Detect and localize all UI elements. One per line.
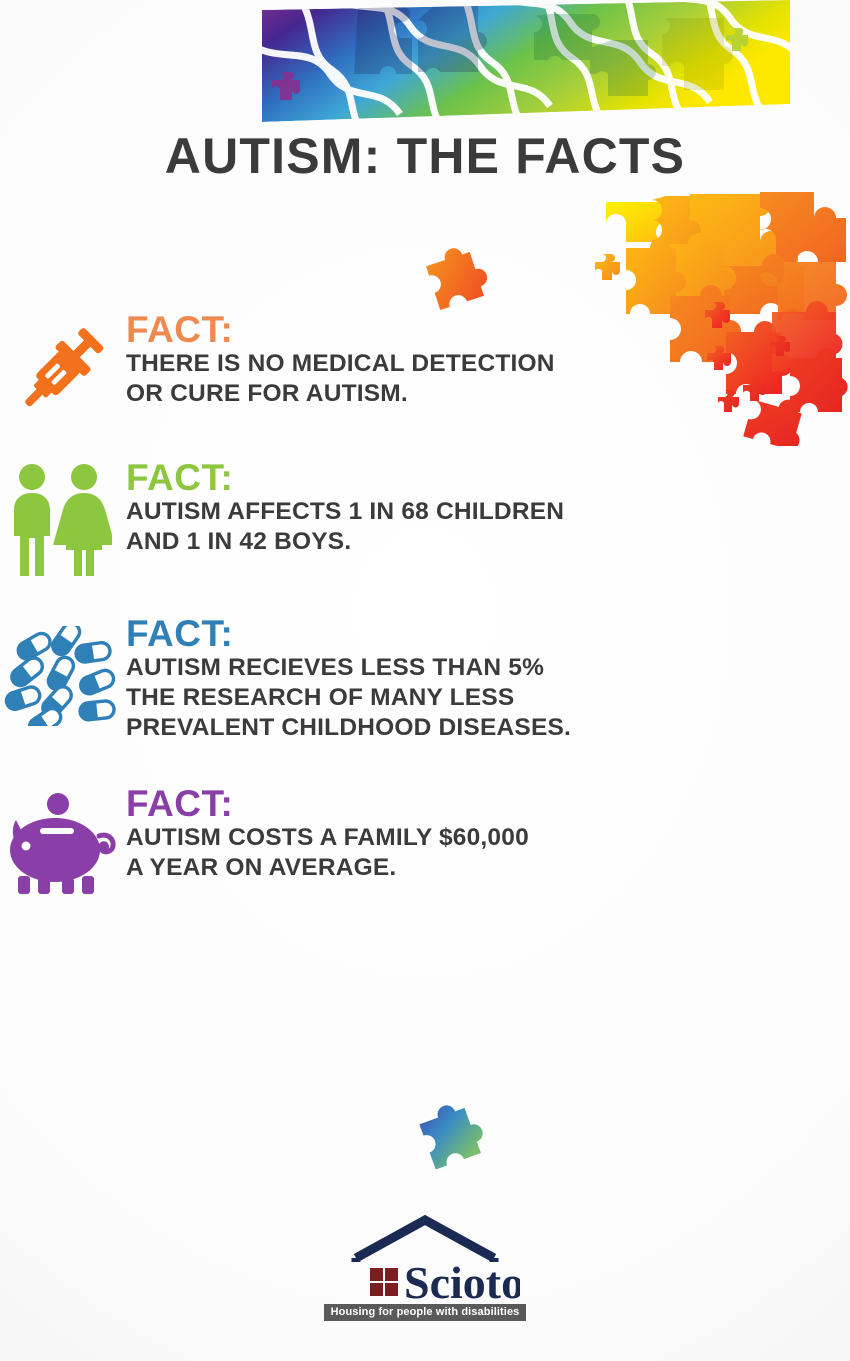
page-title: AUTISM: THE FACTS [0,127,850,185]
logo-tagline: Housing for people with disabilities [324,1304,527,1321]
puzzle-piece-orange-icon [414,248,496,314]
fact-label-1: FACT: [126,312,555,347]
fact-text-4: AUTISM COSTS A FAMILY $60,000 A YEAR ON … [126,823,529,883]
fact-text-line: AND 1 IN 42 BOYS. [126,527,564,557]
fact-body-2: FACT: AUTISM AFFECTS 1 IN 68 CHILDREN AN… [120,460,564,557]
piggy-bank-icon [0,792,120,896]
fact-text-line: THE RESEARCH OF MANY LESS [126,683,571,713]
fact-item-1: FACT: THERE IS NO MEDICAL DETECTION OR C… [0,312,850,418]
fact-body-1: FACT: THERE IS NO MEDICAL DETECTION OR C… [120,312,555,409]
fact-text-1: THERE IS NO MEDICAL DETECTION OR CURE FO… [126,349,555,409]
fact-label-3: FACT: [126,616,571,651]
logo-wordmark: Scioto [404,1257,520,1302]
window-icon [370,1268,398,1296]
facts-list: FACT: THERE IS NO MEDICAL DETECTION OR C… [0,312,850,926]
fact-icon-wrapper-1 [0,312,120,418]
fact-item-2: FACT: AUTISM AFFECTS 1 IN 68 CHILDREN AN… [0,460,850,578]
fact-icon-wrapper-4 [0,786,120,896]
fact-label-4: FACT: [126,786,529,821]
fact-text-line: AUTISM AFFECTS 1 IN 68 CHILDREN [126,497,564,527]
fact-text-line: PREVALENT CHILDHOOD DISEASES. [126,713,571,743]
scioto-logo[interactable]: Scioto Housing for people with disabilit… [0,1210,850,1321]
fact-body-3: FACT: AUTISM RECIEVES LESS THAN 5% THE R… [120,616,571,744]
fact-label-2: FACT: [126,460,564,495]
fact-text-2: AUTISM AFFECTS 1 IN 68 CHILDREN AND 1 IN… [126,497,564,557]
fact-icon-wrapper-2 [0,460,120,578]
fact-text-line: AUTISM COSTS A FAMILY $60,000 [126,823,529,853]
fact-body-4: FACT: AUTISM COSTS A FAMILY $60,000 A YE… [120,786,529,883]
fact-text-line: AUTISM RECIEVES LESS THAN 5% [126,653,571,683]
fact-text-line: A YEAR ON AVERAGE. [126,853,529,883]
fact-item-3: FACT: AUTISM RECIEVES LESS THAN 5% THE R… [0,616,850,744]
fact-icon-wrapper-3 [0,616,120,726]
puzzle-piece-blue-green-icon [410,1102,494,1174]
fact-item-4: FACT: AUTISM COSTS A FAMILY $60,000 A YE… [0,786,850,896]
fact-text-3: AUTISM RECIEVES LESS THAN 5% THE RESEARC… [126,653,571,743]
people-icon [8,462,112,578]
pills-icon [4,626,116,726]
logo-mark: Scioto [330,1210,520,1302]
infographic-poster: AUTISM: THE FACTS [0,0,850,1361]
fact-text-line: THERE IS NO MEDICAL DETECTION [126,349,555,379]
puzzle-band-decoration [262,0,790,122]
syringe-icon [12,322,108,418]
fact-text-line: OR CURE FOR AUTISM. [126,379,555,409]
